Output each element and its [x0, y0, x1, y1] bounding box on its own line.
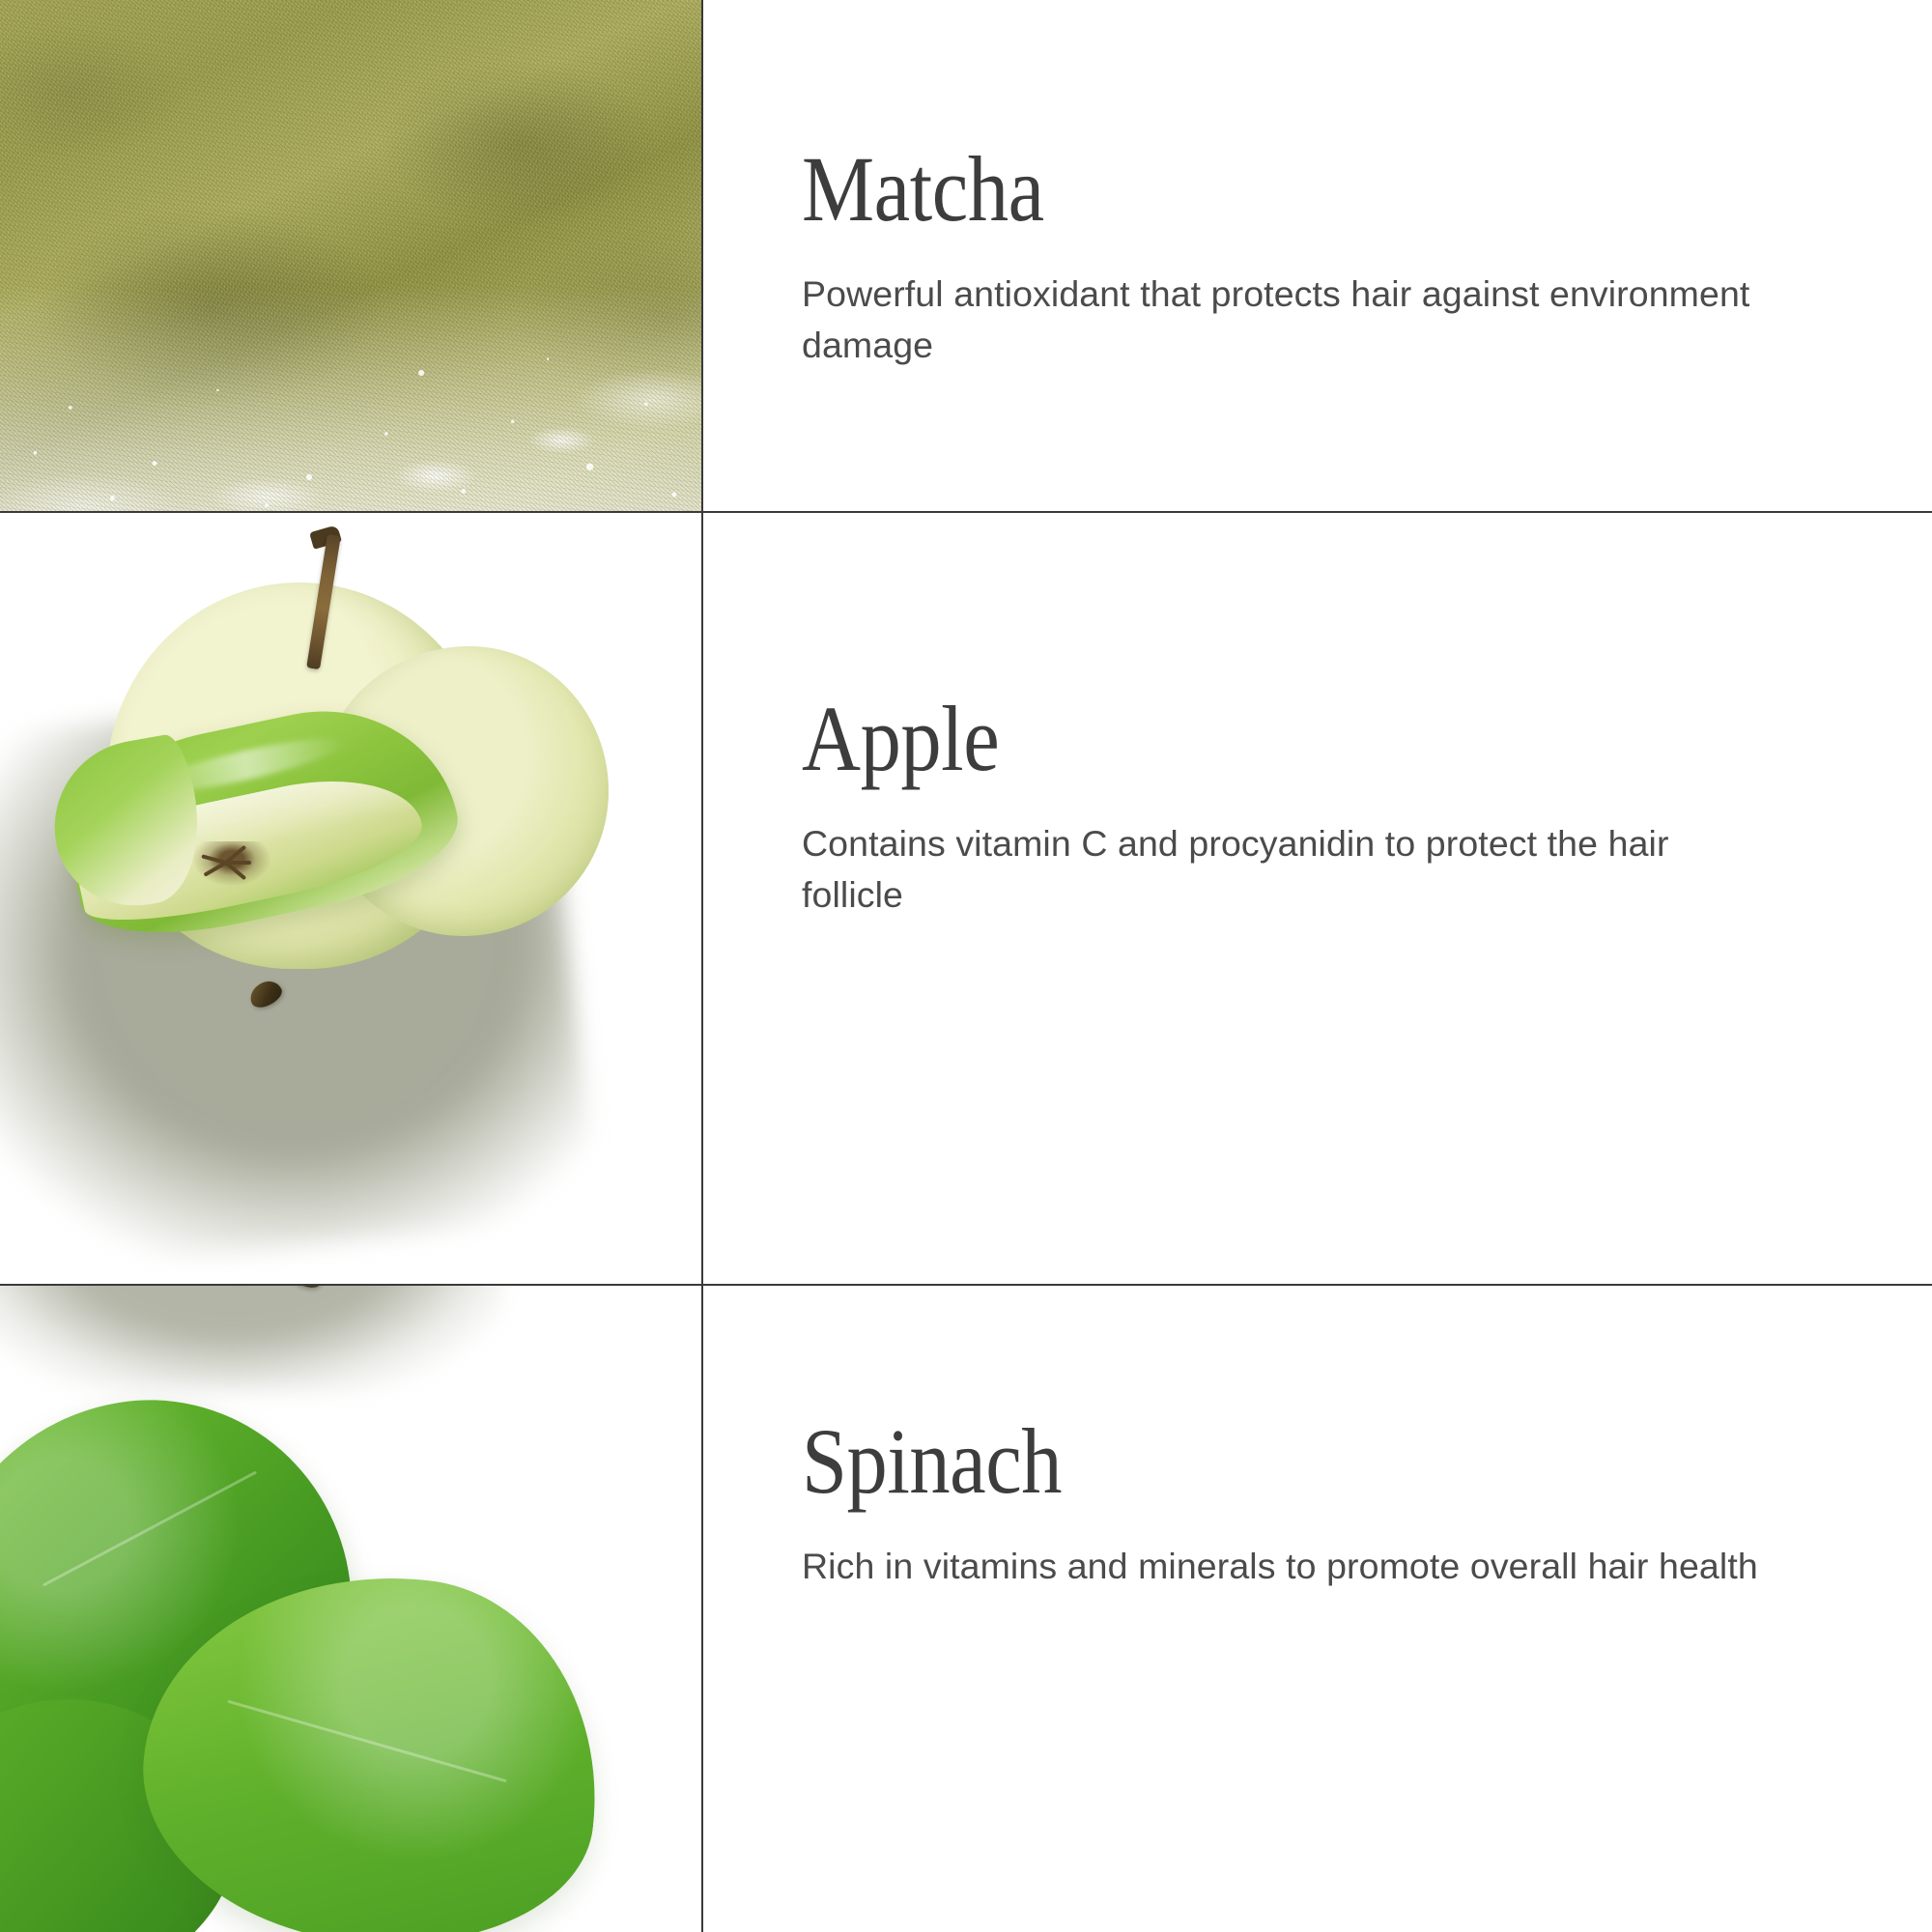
spinach-image [0, 1286, 702, 1932]
matcha-title: Matcha [802, 143, 1746, 236]
divider-column [701, 0, 703, 1932]
apple-image-cell [0, 513, 702, 1285]
divider-row-2 [0, 1284, 1932, 1286]
matcha-description: Powerful antioxidant that protects hair … [802, 269, 1777, 372]
section-row-apple: Apple Contains vitamin C and procyanidin… [0, 513, 1932, 1285]
matcha-powder-image [0, 0, 702, 512]
spinach-text-block: Spinach Rich in vitamins and minerals to… [802, 1415, 1874, 1592]
apple-text-block: Apple Contains vitamin C and procyanidin… [802, 693, 1874, 922]
apple-image [0, 513, 702, 1285]
apple-title: Apple [802, 693, 1746, 785]
section-row-matcha: Matcha Powerful antioxidant that protect… [0, 0, 1932, 512]
apple-text-cell: Apple Contains vitamin C and procyanidin… [702, 513, 1932, 1285]
matcha-text-cell: Matcha Powerful antioxidant that protect… [702, 0, 1932, 512]
spinach-image-cell [0, 1286, 702, 1932]
matcha-white-speckles [0, 338, 702, 512]
matcha-text-block: Matcha Powerful antioxidant that protect… [802, 143, 1874, 372]
apple-description: Contains vitamin C and procyanidin to pr… [802, 818, 1777, 922]
spinach-description: Rich in vitamins and minerals to promote… [802, 1541, 1777, 1592]
section-row-spinach: Spinach Rich in vitamins and minerals to… [0, 1286, 1932, 1932]
matcha-image-cell [0, 0, 702, 512]
spinach-text-cell: Spinach Rich in vitamins and minerals to… [702, 1286, 1932, 1932]
apple-calyx [193, 841, 270, 886]
spinach-title: Spinach [802, 1415, 1746, 1508]
apple-shadow-tail [0, 1286, 502, 1392]
ingredient-benefits-board: Matcha Powerful antioxidant that protect… [0, 0, 1932, 1932]
divider-row-1 [0, 511, 1932, 513]
